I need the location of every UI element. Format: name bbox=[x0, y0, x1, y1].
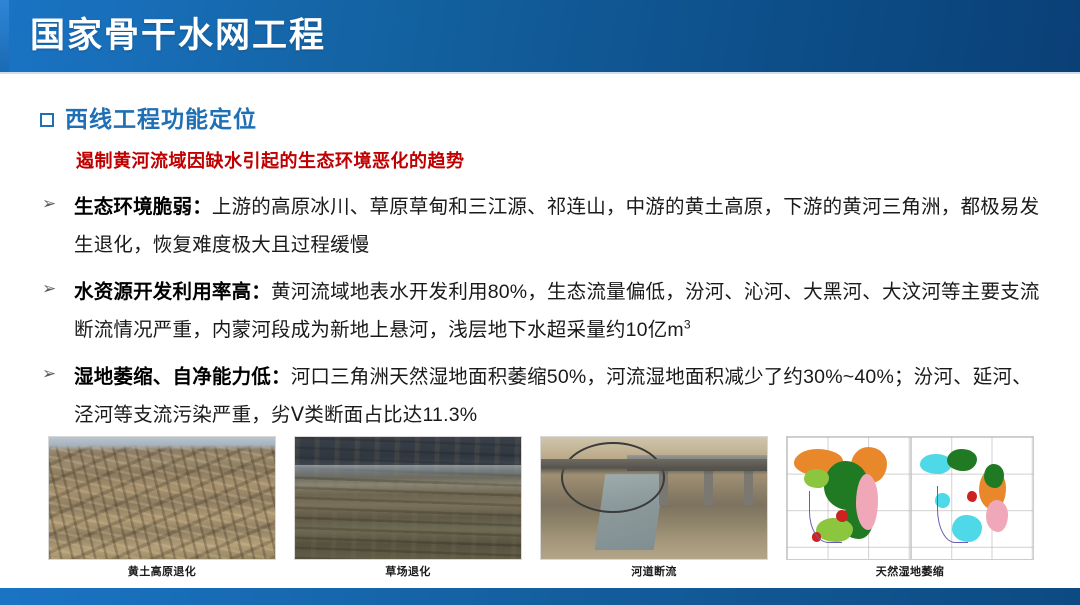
map-region-patch bbox=[984, 464, 1004, 488]
photo-caption: 河道断流 bbox=[540, 564, 768, 580]
list-item: ➢ 湿地萎缩、自净能力低：河口三角洲天然湿地面积萎缩50%，河流湿地面积减少了约… bbox=[38, 358, 1050, 434]
bullet-lead-label: 生态环境脆弱： bbox=[74, 196, 212, 218]
bullet-text: 生态环境脆弱：上游的高原冰川、草原草甸和三江源、祁连山，中游的黄土高原，下游的黄… bbox=[74, 188, 1050, 264]
photo-caption: 黄土高原退化 bbox=[48, 564, 276, 580]
slide: 国家骨干水网工程 西线工程功能定位 遏制黄河流域因缺水引起的生态环境恶化的趋势 … bbox=[0, 0, 1080, 605]
wetland-map-panel-right bbox=[911, 437, 1034, 559]
photo-cell-grassland: 草场退化 bbox=[294, 436, 522, 560]
photo-loess-plateau-erosion bbox=[48, 436, 276, 560]
superscript-exponent: 3 bbox=[684, 318, 691, 332]
photo-cell-loess-plateau: 黄土高原退化 bbox=[48, 436, 276, 560]
arrow-bullet-icon: ➢ bbox=[42, 193, 56, 215]
arrow-bullet-icon: ➢ bbox=[42, 363, 56, 385]
photo-degraded-grassland bbox=[294, 436, 522, 560]
bullet-text: 水资源开发利用率高：黄河流域地表水开发利用80%，生态流量偏低，汾河、沁河、大黑… bbox=[74, 273, 1050, 349]
square-bullet-icon bbox=[40, 113, 54, 127]
bridge-pier-shape bbox=[704, 471, 713, 505]
map-region-patch bbox=[804, 469, 829, 489]
photo-caption: 天然湿地萎缩 bbox=[786, 564, 1034, 580]
bullet-list: ➢ 生态环境脆弱：上游的高原冰川、草原草甸和三江源、祁连山，中游的黄土高原，下游… bbox=[38, 188, 1050, 443]
arrow-bullet-icon: ➢ bbox=[42, 278, 56, 300]
photo-wetland-shrinkage-maps bbox=[786, 436, 1034, 560]
list-item: ➢ 水资源开发利用率高：黄河流域地表水开发利用80%，生态流量偏低，汾河、沁河、… bbox=[38, 273, 1050, 349]
section-heading-label: 西线工程功能定位 bbox=[65, 104, 257, 134]
bullet-body-text: 上游的高原冰川、草原草甸和三江源、祁连山，中游的黄土高原，下游的黄河三角洲，都极… bbox=[74, 196, 1039, 256]
page-title: 国家骨干水网工程 bbox=[30, 11, 326, 61]
photo-cell-wetland-maps: 天然湿地萎缩 bbox=[786, 436, 1034, 560]
wetland-map-panel-left bbox=[787, 437, 911, 559]
bullet-lead-label: 水资源开发利用率高： bbox=[74, 281, 271, 303]
section-subtitle: 遏制黄河流域因缺水引起的生态环境恶化的趋势 bbox=[76, 148, 465, 174]
photo-dry-riverbed-bridge bbox=[540, 436, 768, 560]
map-region-patch bbox=[856, 474, 878, 530]
slide-header: 国家骨干水网工程 bbox=[0, 0, 1080, 72]
header-underline bbox=[0, 72, 1080, 74]
list-item: ➢ 生态环境脆弱：上游的高原冰川、草原草甸和三江源、祁连山，中游的黄土高原，下游… bbox=[38, 188, 1050, 264]
map-region-patch bbox=[967, 491, 977, 502]
header-accent-bar bbox=[0, 0, 9, 72]
footer-bar bbox=[0, 588, 1080, 605]
map-region-patch bbox=[947, 449, 976, 471]
ellipse-annotation bbox=[561, 442, 665, 513]
section-heading: 西线工程功能定位 bbox=[40, 104, 257, 134]
photo-strip: 黄土高原退化 草场退化 河道断流 bbox=[0, 436, 1080, 566]
photo-cell-dry-riverbed: 河道断流 bbox=[540, 436, 768, 560]
photo-caption: 草场退化 bbox=[294, 564, 522, 580]
bullet-text: 湿地萎缩、自净能力低：河口三角洲天然湿地面积萎缩50%，河流湿地面积减少了约30… bbox=[74, 358, 1050, 434]
bullet-lead-label: 湿地萎缩、自净能力低： bbox=[74, 366, 291, 388]
bridge-pier-shape bbox=[744, 471, 753, 505]
